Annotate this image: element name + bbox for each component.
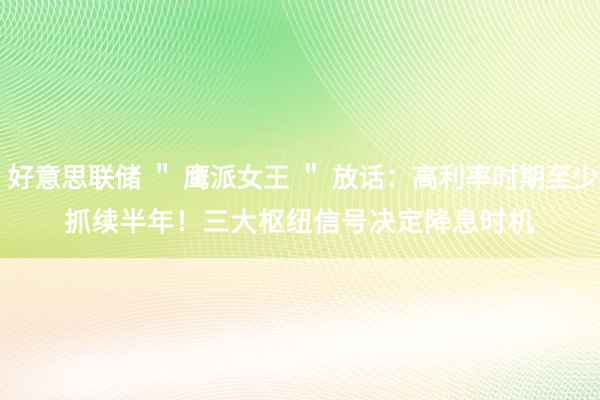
headline-text-block: 好意思联储 ＂ 鹰派女王 ＂ 放话：高利率时期至少再 抓续半年！三大枢纽信号决定… xyxy=(8,156,592,244)
headline-line-2: 抓续半年！三大枢纽信号决定降息时机 xyxy=(8,200,592,244)
headline-line-1: 好意思联储 ＂ 鹰派女王 ＂ 放话：高利率时期至少再 xyxy=(8,156,592,200)
headline-container: 好意思联储 ＂ 鹰派女王 ＂ 放话：高利率时期至少再 抓续半年！三大枢纽信号决定… xyxy=(0,0,600,400)
news-headline-banner: 好意思联储 ＂ 鹰派女王 ＂ 放话：高利率时期至少再 抓续半年！三大枢纽信号决定… xyxy=(0,0,600,400)
